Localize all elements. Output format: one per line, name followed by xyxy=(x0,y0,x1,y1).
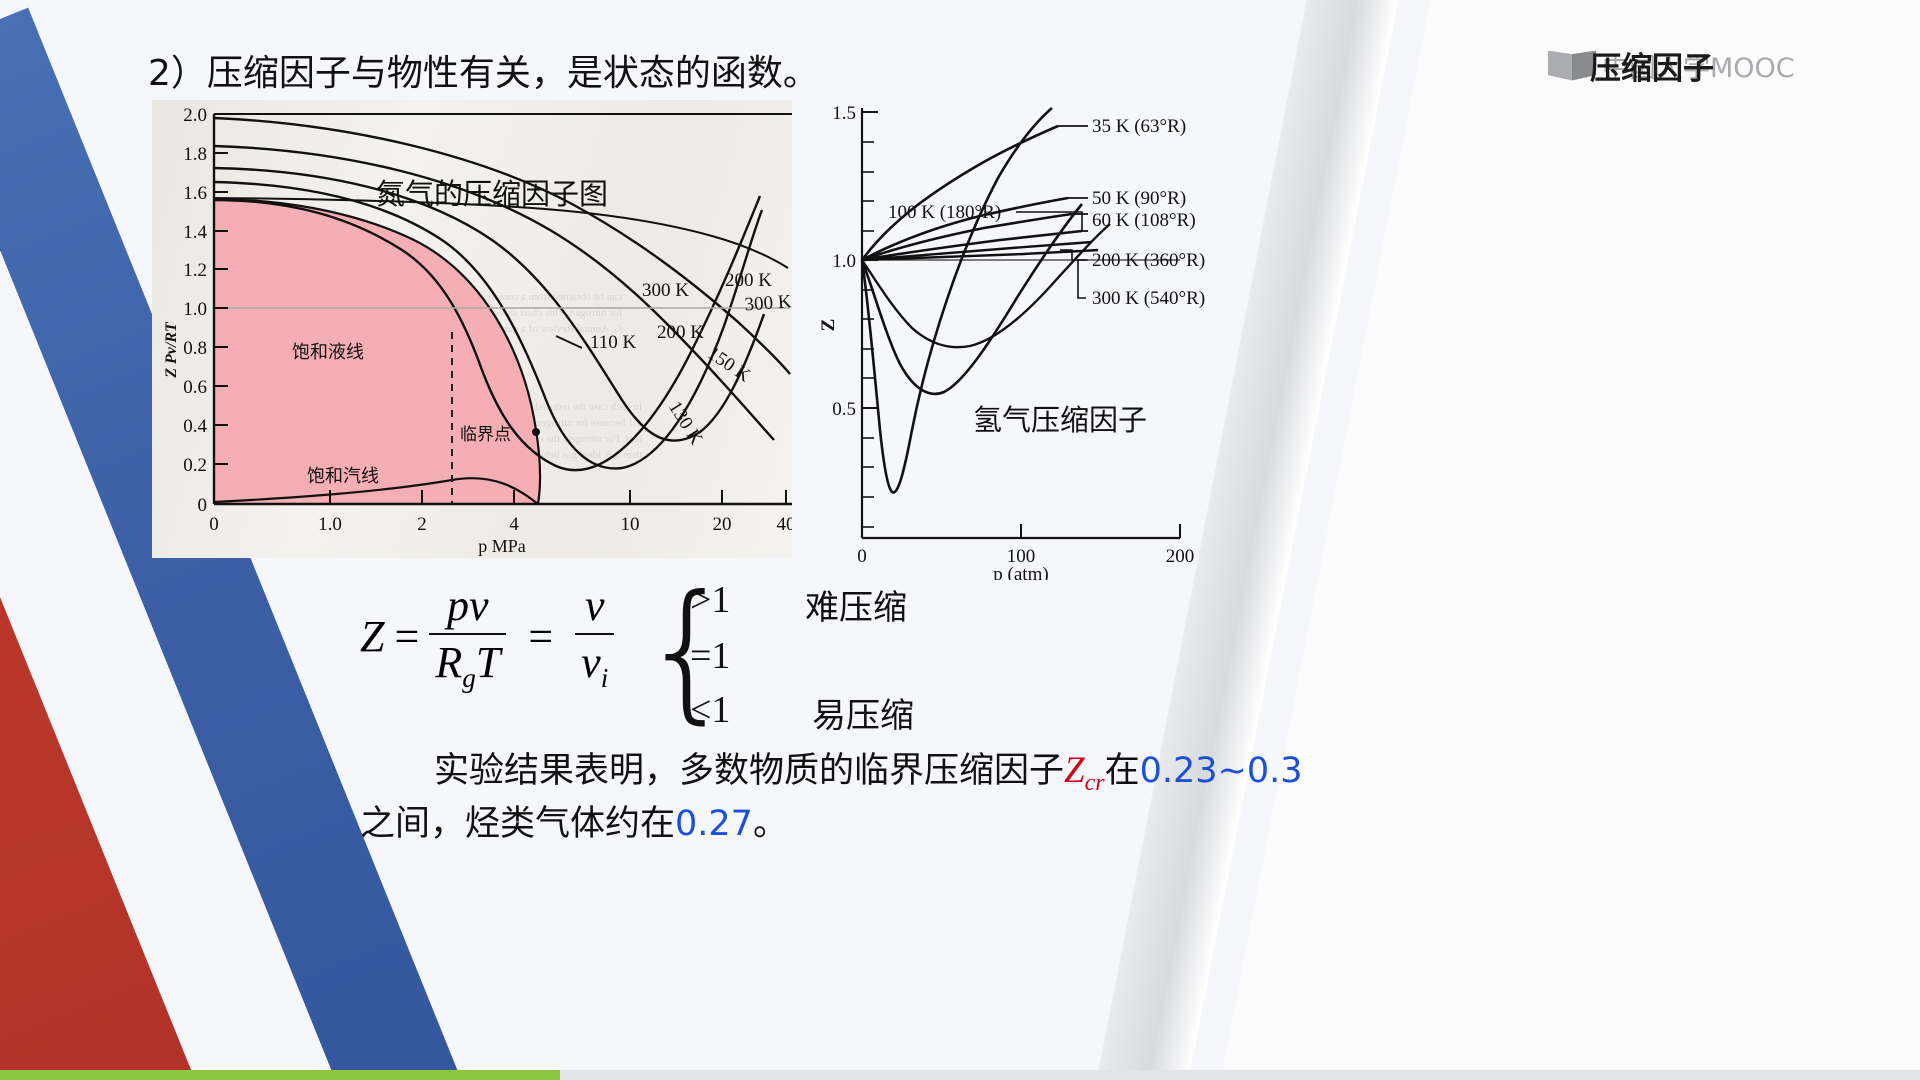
formula-equals-2: = xyxy=(506,611,575,662)
paragraph-part-3: 之间，烃类气体约在 xyxy=(360,804,675,844)
nitrogen-chart-title: 氮气的压缩因子图 xyxy=(376,177,608,211)
formula-fraction-2: v vi xyxy=(575,580,614,694)
x-tick-label: 200 xyxy=(1166,546,1195,567)
y-tick-label: 1.4 xyxy=(183,222,207,243)
paragraph-zcr: Z xyxy=(1064,750,1085,791)
paragraph-value: 0.27 xyxy=(675,804,753,844)
paragraph-range: 0.23~0.3 xyxy=(1140,751,1303,791)
series-label-200K: 200 K xyxy=(725,270,772,291)
summary-paragraph: 实验结果表明，多数物质的临界压缩因子Zcr在0.23~0.3 之间，烃类气体约在… xyxy=(360,745,1440,850)
y-tick-label: 0 xyxy=(198,495,208,516)
annotation-saturated-vapor: 饱和汽线 xyxy=(307,466,379,487)
y-tick-label: 1.0 xyxy=(832,251,856,272)
progress-bar-green xyxy=(0,1070,560,1080)
slide-title: 压缩因子 xyxy=(1590,43,1714,88)
series-label-110K: 110 K xyxy=(590,332,637,353)
case-condition-gt: >1 xyxy=(690,578,730,622)
paragraph-part-4: 。 xyxy=(753,804,788,844)
paragraph-part-2: 在 xyxy=(1105,751,1140,791)
series-label-200K: 200 K (360°R) xyxy=(1092,250,1205,271)
x-tick-label: 0 xyxy=(857,546,867,567)
x-tick-label: 4 xyxy=(509,514,519,535)
x-axis-title: p (atm) xyxy=(993,564,1048,580)
series-label-300K: 300 K xyxy=(744,291,792,315)
hydrogen-chart: 1.5 1.0 0.5 Z 0 100 200 p (atm) xyxy=(820,100,1220,580)
y-tick-label: 1.8 xyxy=(183,144,207,165)
series-label-300K: 300 K (540°R) xyxy=(1092,288,1205,309)
formula-denominator-2: vi xyxy=(575,633,614,694)
formula-z: Z xyxy=(360,611,384,662)
y-axis-title: Z Pv/RT xyxy=(163,321,180,379)
y-tick-label: 0.8 xyxy=(183,338,207,359)
progress-bar-track xyxy=(560,1070,1920,1080)
leader-110K xyxy=(556,336,582,348)
slide-canvas: 中国大学MOOC 压缩因子 2）压缩因子与物性有关，是状态的函数。 can be… xyxy=(0,0,1920,1080)
series-label-150K: 150 K xyxy=(703,343,754,387)
series-label-200K-html: 200 K xyxy=(657,322,704,344)
formula-den2-sub: i xyxy=(601,663,609,693)
two-phase-region xyxy=(214,200,540,504)
annotation-saturated-liquid: 饱和液线 xyxy=(292,342,364,363)
x-tick-label: 1.0 xyxy=(318,514,342,535)
case-condition-eq: =1 xyxy=(690,634,730,678)
x-tick-label: 40 xyxy=(777,514,793,535)
formula-den2-v: v xyxy=(581,638,601,687)
case-condition-lt: <1 xyxy=(690,688,730,732)
leader-300K-b xyxy=(1078,260,1086,298)
paragraph-zcr-sub: cr xyxy=(1085,770,1105,796)
critical-point-marker xyxy=(532,428,540,436)
x-axis-title: p MPa xyxy=(478,536,526,556)
y-tick-label: 1.0 xyxy=(183,299,207,320)
y-tick-label: 1.6 xyxy=(183,183,207,204)
formula-denominator-1: RgT xyxy=(429,633,506,694)
series-label-35K: 35 K (63°R) xyxy=(1092,116,1186,137)
y-tick-label: 1.5 xyxy=(832,103,856,124)
series-label-50K: 50 K (90°R) xyxy=(1092,188,1186,209)
y-tick-label: 0.6 xyxy=(183,377,207,398)
nitrogen-chart: can be obtained from a compressibility f… xyxy=(152,100,792,558)
y-tick-label: 0.4 xyxy=(183,416,207,437)
x-tick-label: 2 xyxy=(417,514,427,535)
formula-fraction-1: pv RgT xyxy=(429,580,506,694)
page-heading: 2）压缩因子与物性有关，是状态的函数。 xyxy=(148,44,819,96)
annotation-critical-point: 临界点 xyxy=(460,425,511,445)
series-label-60K: 60 K (108°R) xyxy=(1092,210,1196,231)
y-tick-label: 0.5 xyxy=(832,399,856,420)
series-label-300K-html: 300 K xyxy=(642,280,689,302)
formula-numerator-1: pv xyxy=(441,580,495,633)
series-label-100K: 100 K (180°R) xyxy=(888,202,1001,223)
paragraph-part-1: 实验结果表明，多数物质的临界压缩因子 xyxy=(360,751,1064,791)
x-tick-label: 0 xyxy=(209,514,219,535)
curve-35K xyxy=(862,126,1058,260)
formula-den1-R: R xyxy=(435,638,462,687)
formula-numerator-2: v xyxy=(579,580,611,633)
hydrogen-chart-svg: 1.5 1.0 0.5 Z 0 100 200 p (atm) xyxy=(820,100,1220,580)
x-tick-label: 10 xyxy=(621,514,640,535)
y-tick-label: 1.2 xyxy=(183,260,207,281)
formula-equals-1: = xyxy=(384,611,429,662)
formula-den1-sub: g xyxy=(462,663,476,693)
case-label-hard-to-compress: 难压缩 xyxy=(805,580,907,629)
formula-den1-T: T xyxy=(476,638,500,687)
hydrogen-chart-title: 氢气压缩因子 xyxy=(973,403,1147,437)
case-label-easy-to-compress: 易压缩 xyxy=(812,688,914,737)
y-axis-title: Z xyxy=(820,319,839,332)
y-tick-label: 2.0 xyxy=(183,105,207,126)
book-icon xyxy=(1548,51,1596,81)
y-tick-label: 0.2 xyxy=(183,455,207,476)
x-tick-label: 20 xyxy=(713,514,732,535)
